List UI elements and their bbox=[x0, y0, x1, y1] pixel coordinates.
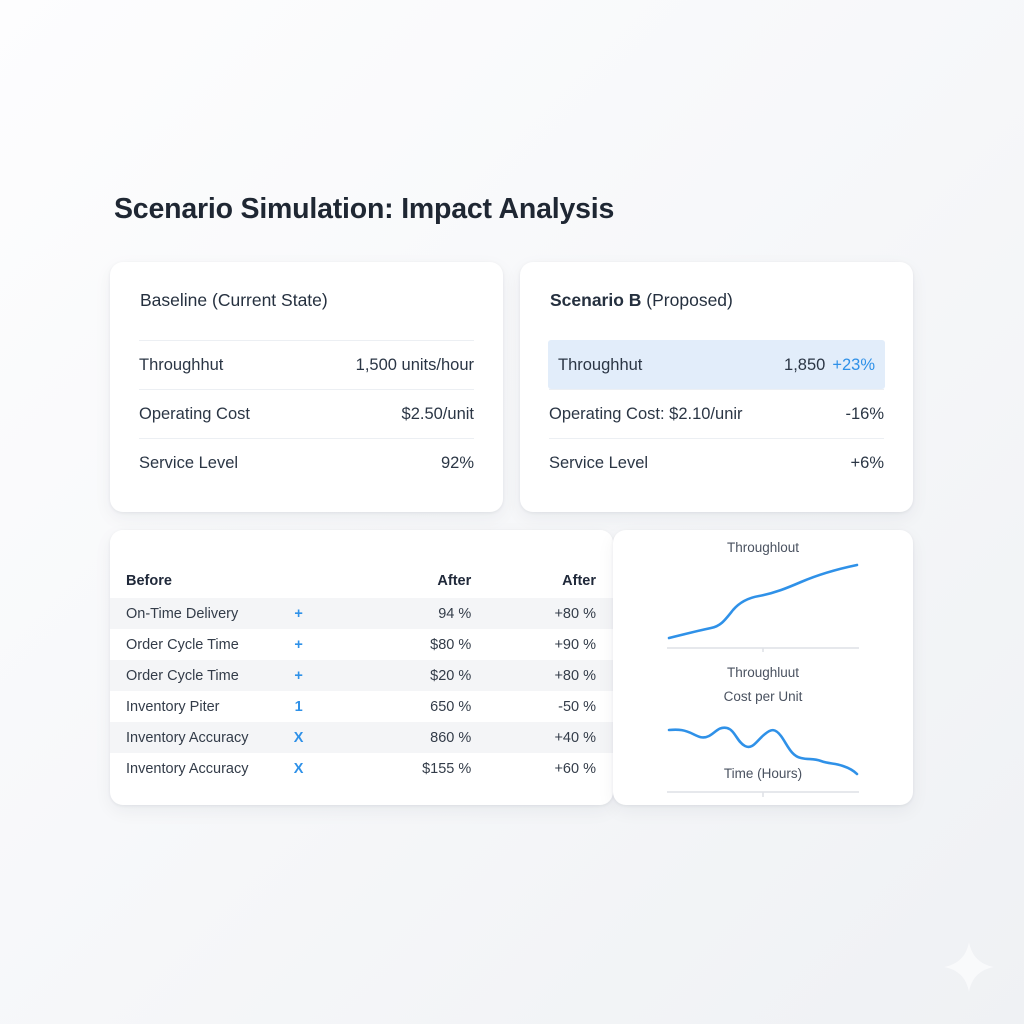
table-header-row: Before After After bbox=[110, 530, 613, 598]
column-header-before[interactable]: Before bbox=[110, 530, 236, 598]
metric-label: Throughhut bbox=[139, 356, 223, 375]
cell-delta: +40 % bbox=[487, 722, 613, 753]
scenario-b-metrics-card: Scenario B (Proposed) Throughhut 1,850+2… bbox=[520, 262, 913, 512]
table-row[interactable]: Inventory Piter 1 650 % -50 % bbox=[110, 691, 613, 722]
cell-metric: Inventory Piter bbox=[110, 691, 236, 722]
metric-value: -16% bbox=[845, 405, 884, 424]
comparison-table: Before After After On-Time Delivery + 94… bbox=[110, 530, 613, 784]
metric-delta: +6% bbox=[851, 454, 884, 472]
cell-mid-glyph: + bbox=[236, 629, 362, 660]
metric-delta: -16% bbox=[845, 405, 884, 423]
cell-metric: On-Time Delivery bbox=[110, 598, 236, 629]
cell-value: $80 % bbox=[362, 629, 488, 660]
metric-row-highlighted[interactable]: Throughhut 1,850+23% bbox=[548, 340, 885, 389]
cost-line-svg bbox=[663, 708, 863, 800]
sparkle-icon bbox=[942, 940, 996, 994]
metric-value: +6% bbox=[851, 454, 884, 473]
table-body: On-Time Delivery + 94 % +80 % Order Cycl… bbox=[110, 598, 613, 784]
baseline-metric-list: Throughhut 1,500 units/hour Operating Co… bbox=[110, 340, 503, 487]
cell-delta: +90 % bbox=[487, 629, 613, 660]
metric-value: 1,850+23% bbox=[784, 356, 875, 375]
comparison-table-card: Before After After On-Time Delivery + 94… bbox=[110, 530, 613, 805]
table-row[interactable]: Order Cycle Time + $20 % +80 % bbox=[110, 660, 613, 691]
column-header-after-value[interactable]: After bbox=[362, 530, 488, 598]
cell-value: 860 % bbox=[362, 722, 488, 753]
metric-label: Operating Cost bbox=[139, 405, 250, 424]
page-title: Scenario Simulation: Impact Analysis bbox=[114, 193, 614, 226]
cell-delta: +60 % bbox=[487, 753, 613, 784]
metric-row[interactable]: Service Level +6% bbox=[549, 438, 884, 487]
baseline-metrics-card: Baseline (Current State) Throughhut 1,50… bbox=[110, 262, 503, 512]
cell-value: $155 % bbox=[362, 753, 488, 784]
app-canvas: Scenario Simulation: Impact Analysis Bas… bbox=[0, 0, 1024, 1024]
metric-number: 1,850 bbox=[784, 356, 825, 374]
cell-delta: +80 % bbox=[487, 598, 613, 629]
throughput-line-svg bbox=[663, 560, 863, 652]
sparkle-star-shape bbox=[944, 942, 994, 992]
cell-mid-glyph: 1 bbox=[236, 691, 362, 722]
metric-value: 1,500 units/hour bbox=[356, 356, 474, 375]
chart-throughput-plot[interactable] bbox=[613, 560, 913, 652]
chart-cost-plot[interactable] bbox=[613, 708, 913, 800]
metric-row[interactable]: Operating Cost $2.50/unit bbox=[139, 389, 474, 438]
table-row[interactable]: Inventory Accuracy X 860 % +40 % bbox=[110, 722, 613, 753]
cell-delta: +80 % bbox=[487, 660, 613, 691]
metric-label: Operating Cost: $2.10/unir bbox=[549, 405, 743, 424]
metric-value: $2.50/unit bbox=[402, 405, 474, 424]
chart-throughput-xlabel: Throughluut bbox=[613, 665, 913, 680]
column-header-after-delta[interactable]: After bbox=[487, 530, 613, 598]
table-row[interactable]: Inventory Accuracy X $155 % +60 % bbox=[110, 753, 613, 784]
cell-mid-glyph: X bbox=[236, 722, 362, 753]
cell-delta: -50 % bbox=[487, 691, 613, 722]
chart-cost-title: Cost per Unit bbox=[613, 689, 913, 704]
table-row[interactable]: Order Cycle Time + $80 % +90 % bbox=[110, 629, 613, 660]
metric-delta: +23% bbox=[832, 356, 875, 374]
metric-row[interactable]: Throughhut 1,500 units/hour bbox=[139, 340, 474, 389]
cell-mid-glyph: + bbox=[236, 660, 362, 691]
cell-value: $20 % bbox=[362, 660, 488, 691]
metric-label: Throughhut bbox=[558, 356, 642, 375]
cell-metric: Inventory Accuracy bbox=[110, 753, 236, 784]
cell-mid-glyph: X bbox=[236, 753, 362, 784]
cell-value: 650 % bbox=[362, 691, 488, 722]
table-header: Before After After bbox=[110, 530, 613, 598]
throughput-trend-line bbox=[669, 565, 857, 638]
metric-row[interactable]: Service Level 92% bbox=[139, 438, 474, 487]
cell-metric: Order Cycle Time bbox=[110, 629, 236, 660]
table-row[interactable]: On-Time Delivery + 94 % +80 % bbox=[110, 598, 613, 629]
metric-label: Service Level bbox=[549, 454, 648, 473]
baseline-card-title: Baseline (Current State) bbox=[140, 290, 328, 311]
scenario-card-title-rest: (Proposed) bbox=[641, 290, 732, 310]
metric-row[interactable]: Operating Cost: $2.10/unir -16% bbox=[549, 389, 884, 438]
charts-panel-card: Throughlout Throughluut Cost per Unit Ti… bbox=[613, 530, 913, 805]
scenario-metric-list: Throughhut 1,850+23% Operating Cost: $2.… bbox=[520, 340, 913, 487]
cell-mid-glyph: + bbox=[236, 598, 362, 629]
cell-value: 94 % bbox=[362, 598, 488, 629]
scenario-card-title-strong: Scenario B bbox=[550, 290, 641, 310]
chart-throughput-title: Throughlout bbox=[613, 540, 913, 555]
chart-cost-xlabel: Time (Hours) bbox=[613, 766, 913, 781]
cell-metric: Inventory Accuracy bbox=[110, 722, 236, 753]
scenario-card-title: Scenario B (Proposed) bbox=[550, 290, 733, 311]
metric-label: Service Level bbox=[139, 454, 238, 473]
cell-metric: Order Cycle Time bbox=[110, 660, 236, 691]
column-header-mid bbox=[236, 530, 362, 598]
metric-value: 92% bbox=[441, 454, 474, 473]
